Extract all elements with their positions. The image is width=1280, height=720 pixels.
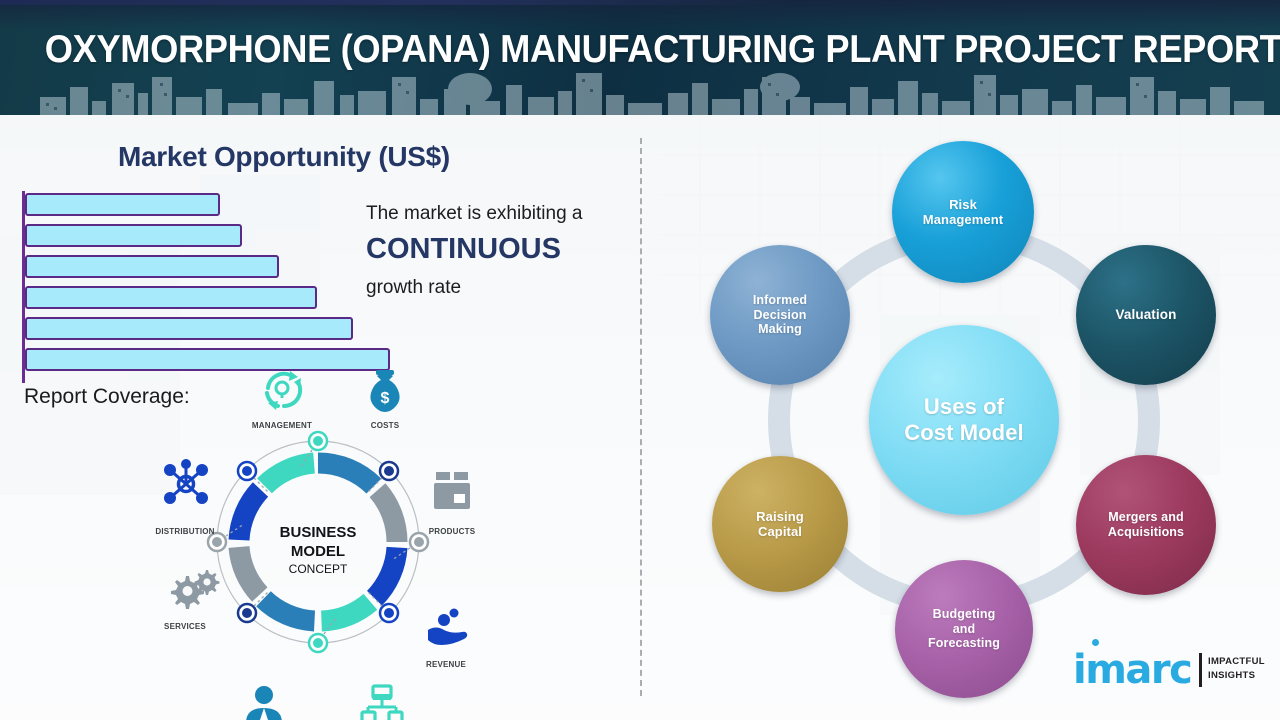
bm-label-services: SERVICES bbox=[164, 622, 206, 631]
market-message-line1: The market is exhibiting a bbox=[366, 203, 583, 225]
bm-label-management: MANAGEMENT bbox=[252, 421, 312, 430]
recycle-lightbulb-icon bbox=[267, 371, 301, 410]
node-label-line1: Risk bbox=[923, 197, 1003, 212]
market-opportunity-title: Market Opportunity (US$) bbox=[118, 141, 450, 173]
network-nodes-icon bbox=[164, 459, 208, 504]
bm-label-revenue: REVENUE bbox=[426, 660, 466, 669]
cost-model-node-raising-capital[interactable]: Raising Capital bbox=[712, 456, 848, 592]
imarc-logo-divider bbox=[1199, 653, 1202, 687]
market-opportunity-bar-chart bbox=[22, 191, 422, 391]
left-panel: Market Opportunity (US$) The market is e… bbox=[0, 115, 640, 720]
cost-model-center: Uses of Cost Model bbox=[869, 325, 1059, 515]
chart-bar bbox=[25, 193, 220, 216]
right-panel: Risk Management Valuation Mergers and Ac… bbox=[640, 115, 1280, 720]
imarc-logo: imarc IMPACTFUL INSIGHTS bbox=[1073, 648, 1273, 700]
cost-model-node-valuation[interactable]: Valuation bbox=[1076, 245, 1216, 385]
cost-model-node-informed-decision-making[interactable]: Informed Decision Making bbox=[710, 245, 850, 385]
node-label-line2: Acquisitions bbox=[1108, 525, 1184, 540]
chart-bar bbox=[25, 317, 353, 340]
chart-bar bbox=[25, 348, 390, 371]
header-banner: OXYMORPHONE (OPANA) MANUFACTURING PLANT … bbox=[0, 0, 1280, 115]
org-network-icon bbox=[362, 686, 402, 720]
bm-label-products: PRODUCTS bbox=[429, 527, 476, 536]
imarc-wordmark: imarc bbox=[1073, 650, 1191, 690]
imarc-tagline-line2: INSIGHTS bbox=[1208, 670, 1255, 681]
imarc-logo-dot bbox=[1092, 639, 1099, 646]
center-label-line2: Cost Model bbox=[904, 420, 1024, 446]
header-top-accent-band bbox=[0, 0, 790, 5]
business-model-diagram: BUSINESS MODEL CONCEPT bbox=[140, 370, 500, 720]
hand-coin-icon bbox=[428, 609, 467, 646]
cost-model-node-budgeting-forecasting[interactable]: Budgeting and Forecasting bbox=[895, 560, 1033, 698]
cost-model-node-risk-management[interactable]: Risk Management bbox=[892, 141, 1034, 283]
market-message-emphasis: CONTINUOUS bbox=[366, 233, 561, 266]
gears-icon bbox=[171, 570, 220, 609]
bm-label-costs: COSTS bbox=[371, 421, 400, 430]
node-label-line3: Forecasting bbox=[928, 636, 1000, 651]
node-label-line1: Budgeting bbox=[928, 607, 1000, 622]
bm-center-line3: CONCEPT bbox=[289, 562, 348, 576]
node-label-line2: Decision bbox=[753, 308, 807, 323]
bm-center-line2: MODEL bbox=[291, 543, 345, 560]
chart-bar bbox=[25, 224, 242, 247]
node-label-line1: Valuation bbox=[1116, 307, 1177, 323]
cost-model-node-mergers-acquisitions[interactable]: Mergers and Acquisitions bbox=[1076, 455, 1216, 595]
box-package-icon bbox=[434, 472, 470, 509]
node-label-line1: Raising bbox=[756, 509, 804, 524]
chart-bar bbox=[25, 286, 317, 309]
bm-center-line1: BUSINESS bbox=[280, 524, 357, 541]
node-label-line1: Informed bbox=[753, 293, 807, 308]
node-label-line2: and bbox=[928, 622, 1000, 637]
node-label-line2: Capital bbox=[756, 524, 804, 539]
imarc-tagline-line1: IMPACTFUL bbox=[1208, 656, 1265, 667]
node-label-line3: Making bbox=[753, 322, 807, 337]
node-label-line2: Management bbox=[923, 212, 1003, 227]
chart-bar bbox=[25, 255, 279, 278]
svg-text:$: $ bbox=[381, 390, 390, 407]
person-icon bbox=[246, 686, 282, 720]
node-label-line1: Mergers and bbox=[1108, 510, 1184, 525]
market-message-line3: growth rate bbox=[366, 277, 461, 299]
slide-root: OXYMORPHONE (OPANA) MANUFACTURING PLANT … bbox=[0, 0, 1280, 720]
page-title: OXYMORPHONE (OPANA) MANUFACTURING PLANT … bbox=[45, 28, 1235, 72]
bm-label-distribution: DISTRIBUTION bbox=[155, 527, 214, 536]
money-bag-icon: $ bbox=[370, 370, 399, 412]
center-label-line1: Uses of bbox=[904, 394, 1024, 420]
